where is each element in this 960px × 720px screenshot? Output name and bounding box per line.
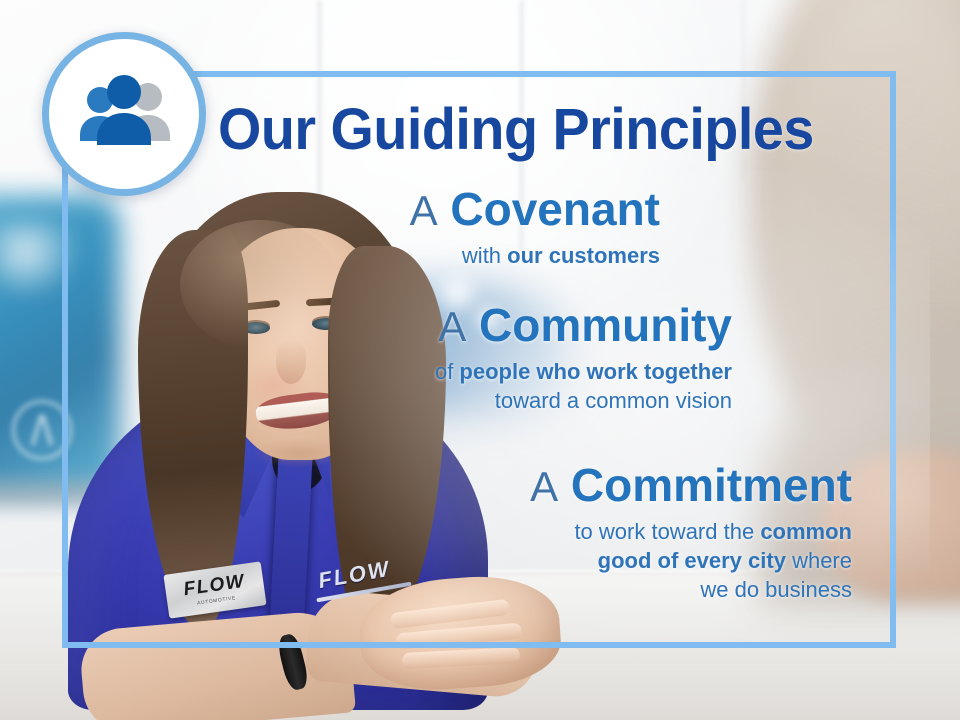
guiding-principles-graphic: FLOW AUTOMOTIVE FLOW [0, 0, 960, 720]
hair-highlight [180, 220, 340, 350]
foreground-person [720, 0, 960, 610]
brand-badge [42, 32, 206, 196]
name-badge-brand: FLOW [182, 572, 246, 599]
people-group-icon [70, 75, 178, 153]
